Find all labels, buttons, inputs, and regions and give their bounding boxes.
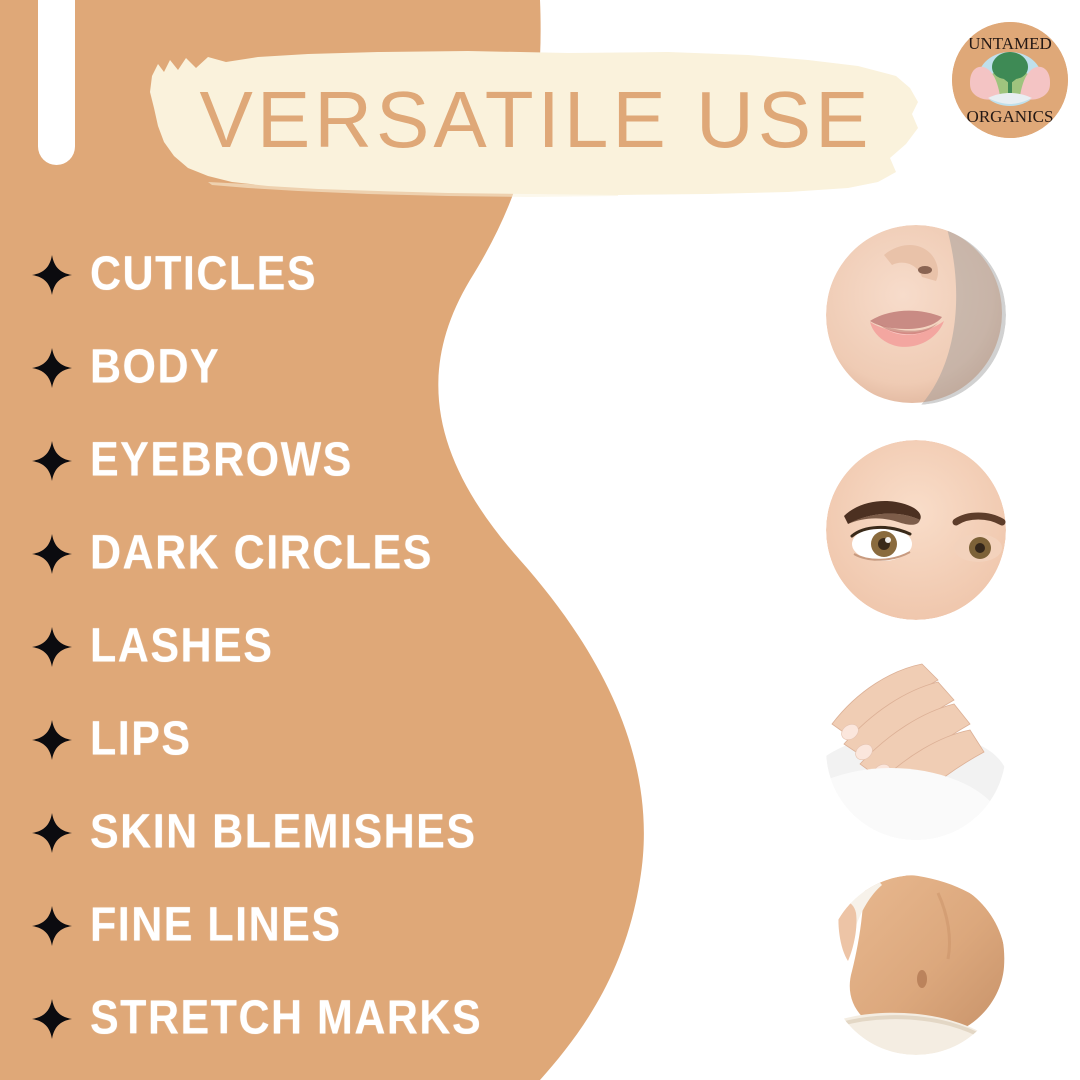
four-point-star-icon: [30, 253, 74, 297]
title-banner: VERSATILE USE: [148, 48, 924, 198]
benefits-list: CUTICLES BODY EYEBROWS DARK CIRCLES LASH: [30, 228, 550, 1065]
list-item[interactable]: SKIN BLEMISHES: [30, 786, 550, 879]
page-title: VERSATILE USE: [148, 48, 924, 198]
four-point-star-icon: [30, 532, 74, 576]
four-point-star-icon: [30, 904, 74, 948]
list-item[interactable]: DARK CIRCLES: [30, 507, 550, 600]
list-item[interactable]: FINE LINES: [30, 879, 550, 972]
hands-photo: [826, 660, 1006, 840]
four-point-star-icon: [30, 625, 74, 669]
list-item-label: CUTICLES: [90, 247, 317, 302]
list-item-label: LIPS: [90, 712, 192, 767]
four-point-star-icon: [30, 718, 74, 762]
four-point-star-icon: [30, 439, 74, 483]
four-point-star-icon: [30, 997, 74, 1041]
logo-top-text: UNTAMED: [968, 34, 1052, 53]
list-item-label: BODY: [90, 340, 220, 395]
torso-photo-artwork: [826, 875, 1006, 1055]
poster-canvas: VERSATILE USE UNTAMED ORGANICS CUTICLES: [0, 0, 1080, 1080]
torso-photo: [826, 875, 1006, 1055]
four-point-star-icon: [30, 811, 74, 855]
brand-logo: UNTAMED ORGANICS: [952, 22, 1068, 138]
logo-artwork: UNTAMED ORGANICS: [952, 22, 1068, 138]
accent-bar: [38, 0, 75, 165]
list-item-label: FINE LINES: [90, 898, 342, 953]
lips-photo: [826, 225, 1006, 405]
hands-photo-artwork: [826, 660, 1006, 840]
list-item-label: SKIN BLEMISHES: [90, 805, 477, 860]
list-item-label: STRETCH MARKS: [90, 991, 482, 1046]
list-item[interactable]: STRETCH MARKS: [30, 972, 550, 1065]
list-item-label: EYEBROWS: [90, 433, 353, 488]
list-item-label: DARK CIRCLES: [90, 526, 433, 581]
eyebrow-photo: [826, 440, 1006, 620]
list-item[interactable]: BODY: [30, 321, 550, 414]
list-item[interactable]: LIPS: [30, 693, 550, 786]
logo-bottom-text: ORGANICS: [967, 107, 1054, 126]
lips-photo-artwork: [826, 225, 1006, 405]
list-item[interactable]: EYEBROWS: [30, 414, 550, 507]
four-point-star-icon: [30, 346, 74, 390]
list-item[interactable]: LASHES: [30, 600, 550, 693]
list-item[interactable]: CUTICLES: [30, 228, 550, 321]
eyebrow-photo-artwork: [826, 440, 1006, 620]
list-item-label: LASHES: [90, 619, 273, 674]
